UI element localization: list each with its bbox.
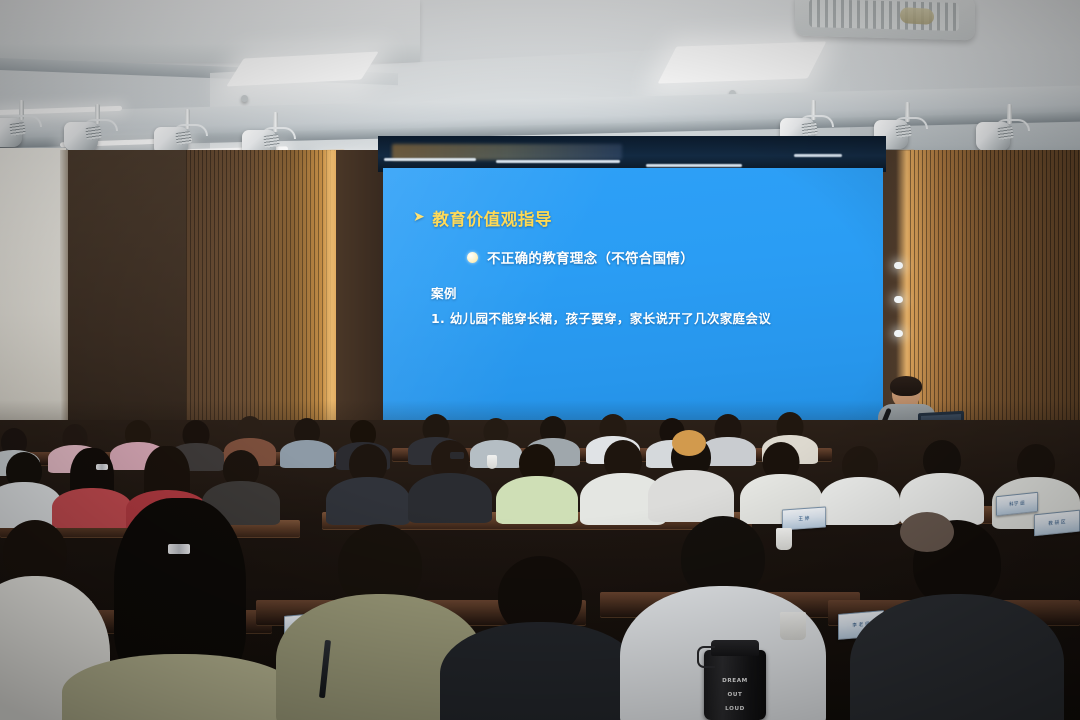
slide-title-line: ➤ 教育价值观指导: [413, 206, 552, 230]
slide-case-label: 案例: [431, 283, 457, 302]
hvac-grill: [809, 0, 959, 31]
wall-accent-light-icon: [894, 296, 903, 303]
audience-member: [440, 556, 640, 720]
screen-bezel: [378, 136, 886, 172]
bezel-glint: [496, 160, 620, 163]
bezel-glint: [646, 164, 742, 167]
audience-member: [496, 444, 578, 524]
bezel-glint: [384, 158, 476, 161]
sprinkler-icon: [241, 95, 248, 102]
slide-content: ➤ 教育价值观指导 不正确的教育理念（不符合国情） 案例 1. 幼儿园不能穿长裙…: [383, 168, 883, 420]
slide-subtitle: 不正确的教育理念（不符合国情）: [487, 247, 694, 267]
presenter-hair: [890, 376, 922, 396]
smoke-detector-icon: [900, 7, 934, 25]
audience-member: [62, 498, 298, 720]
spotlight-icon: [78, 104, 118, 152]
slide-subtitle-line: 不正确的教育理念（不符合国情）: [467, 247, 694, 267]
paper-cup: [780, 612, 806, 640]
audience-member: [326, 444, 410, 524]
arrow-bullet-icon: ➤: [413, 210, 425, 224]
spotlight-icon: [990, 104, 1030, 152]
spotlight-icon: [2, 100, 42, 148]
lecture-hall-photo: ➤ 教育价值观指导 不正确的教育理念（不符合国情） 案例 1. 幼儿园不能穿长裙…: [0, 0, 1080, 720]
paper-cup: [487, 455, 497, 469]
spotlight-icon: [888, 102, 928, 150]
bottle-text-line: OUT: [704, 692, 766, 699]
bottle-cap: [711, 640, 759, 656]
page-title: 教育价值观指导: [432, 206, 552, 230]
led-presentation-screen[interactable]: ➤ 教育价值观指导 不正确的教育理念（不符合国情） 案例 1. 幼儿园不能穿长裙…: [383, 168, 883, 420]
hvac-diffuser-icon: [795, 0, 975, 40]
audience-member: [900, 440, 984, 524]
audience-member: [850, 520, 1064, 720]
bottle-loop: [697, 646, 715, 668]
placard-text: 科学 组: [997, 499, 1037, 509]
slide-case-item: 1. 幼儿园不能穿长裙，孩子要穿，家长说开了几次家庭会议: [431, 308, 771, 327]
wall-accent-light-icon: [894, 330, 903, 337]
audience-member: [408, 440, 492, 522]
bottle-text-line: LOUD: [704, 706, 766, 713]
audience-member: [648, 436, 734, 522]
bezel-glint: [794, 154, 842, 157]
wall-accent-light-icon: [894, 262, 903, 269]
audience-member: [820, 446, 900, 524]
bottle-text-line: DREAM: [704, 678, 766, 685]
panel-light-icon: [658, 41, 827, 83]
circle-bullet-icon: [467, 252, 478, 263]
